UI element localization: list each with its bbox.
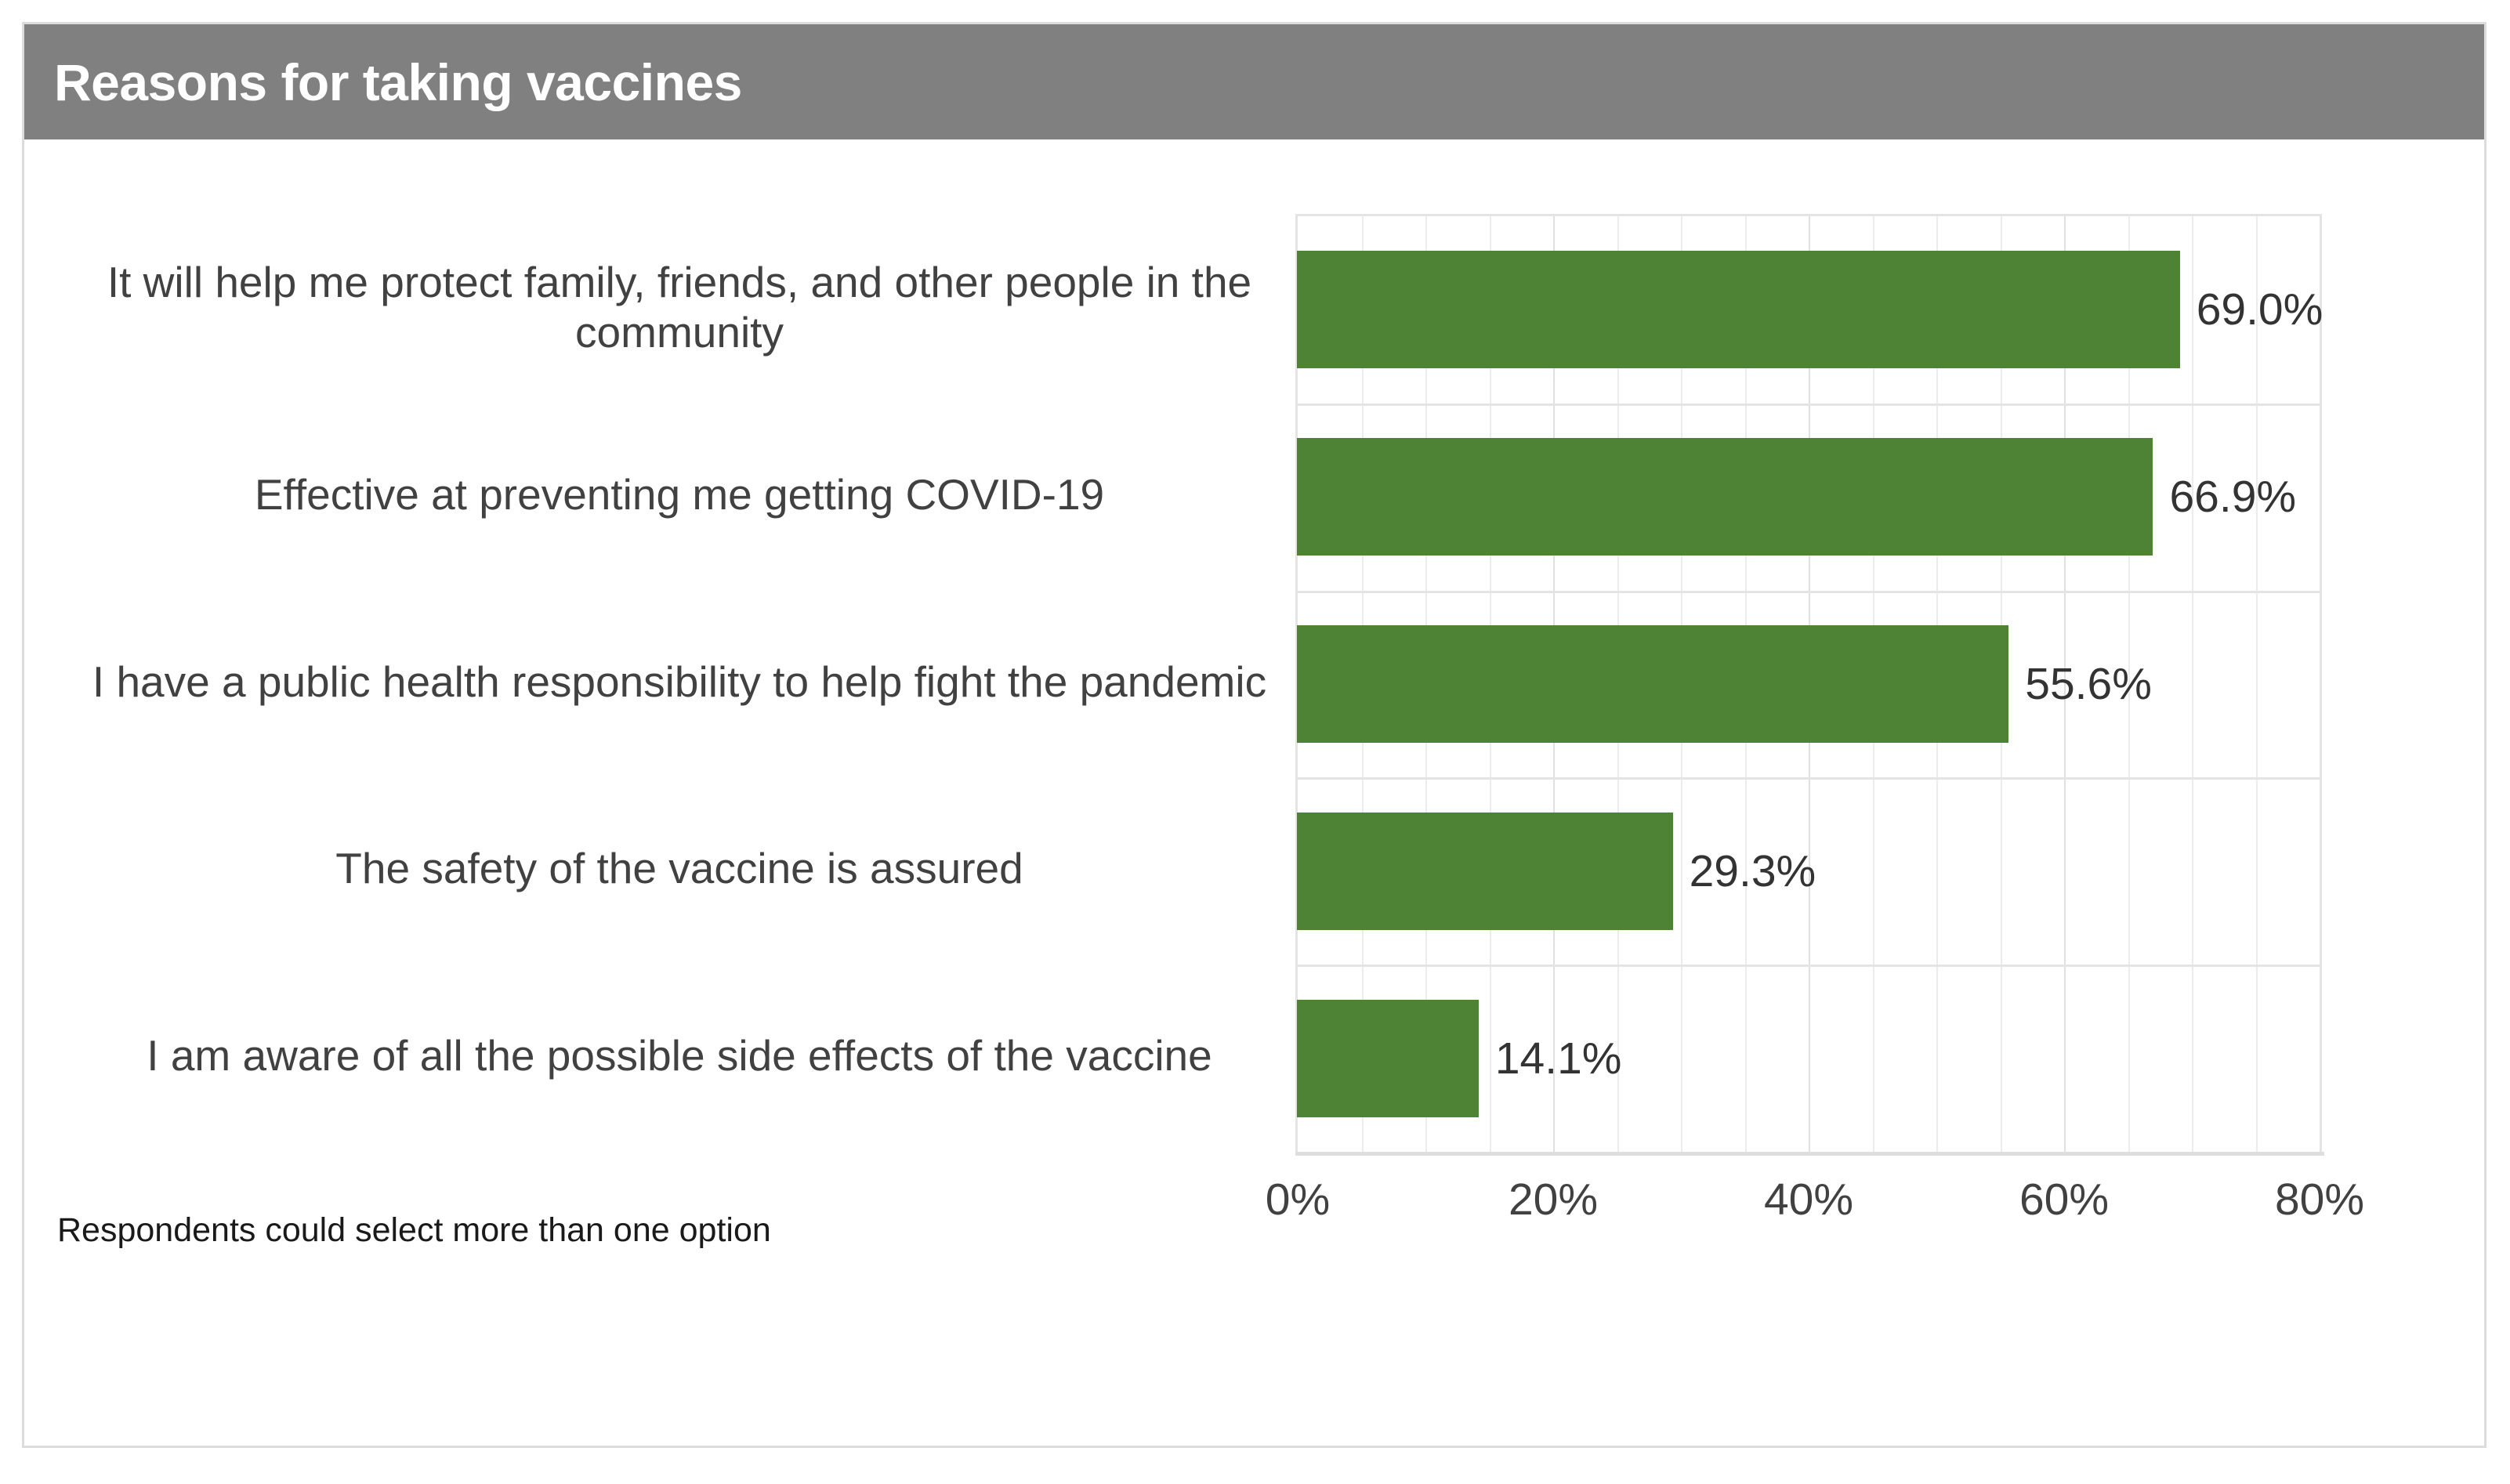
data-value-label: 29.3% bbox=[1690, 845, 1816, 897]
data-value-label: 66.9% bbox=[2169, 471, 2296, 523]
gridline-horizontal bbox=[1298, 591, 2320, 593]
bar bbox=[1298, 813, 1672, 929]
gridline-horizontal bbox=[1298, 965, 2320, 967]
category-label-row: I have a public health responsibility to… bbox=[79, 588, 1292, 776]
x-axis-tick-labels: 0%20%40%60%80% bbox=[1295, 1174, 2322, 1236]
data-value-label: 69.0% bbox=[2197, 284, 2323, 335]
category-axis-labels: It will help me protect family, friends,… bbox=[79, 214, 1292, 1154]
x-tick-label: 0% bbox=[1266, 1174, 1330, 1225]
category-label: The safety of the vaccine is assured bbox=[79, 843, 1292, 894]
category-label-row: The safety of the vaccine is assured bbox=[79, 775, 1292, 962]
category-label: Effective at preventing me getting COVID… bbox=[79, 469, 1292, 520]
data-value-label: 55.6% bbox=[2025, 658, 2152, 710]
gridline-horizontal bbox=[1298, 404, 2320, 406]
gridline-vertical bbox=[2256, 216, 2258, 1152]
category-label-row: Effective at preventing me getting COVID… bbox=[79, 401, 1292, 588]
page-title: Reasons for taking vaccines bbox=[54, 52, 742, 112]
bar bbox=[1298, 252, 2179, 367]
category-label: I am aware of all the possible side effe… bbox=[79, 1030, 1292, 1081]
chart-title-band: Reasons for taking vaccines bbox=[24, 24, 2484, 139]
x-tick-label: 40% bbox=[1764, 1174, 1853, 1225]
bar bbox=[1298, 626, 2008, 742]
bar bbox=[1298, 439, 2152, 555]
gridline-vertical bbox=[2192, 216, 2193, 1152]
x-tick-label: 60% bbox=[2019, 1174, 2109, 1225]
category-label-row: It will help me protect family, friends,… bbox=[79, 214, 1292, 401]
gridline-horizontal bbox=[1298, 777, 2320, 780]
bar bbox=[1298, 1001, 1478, 1117]
category-label-row: I am aware of all the possible side effe… bbox=[79, 962, 1292, 1149]
chart-footnote: Respondents could select more than one o… bbox=[57, 1211, 771, 1250]
x-tick-label: 20% bbox=[1509, 1174, 1598, 1225]
data-value-label: 14.1% bbox=[1495, 1033, 1622, 1084]
chart-card: Reasons for taking vaccines It will help… bbox=[22, 22, 2486, 1448]
x-tick-label: 80% bbox=[2275, 1174, 2364, 1225]
category-label: It will help me protect family, friends,… bbox=[79, 257, 1292, 359]
x-axis-line bbox=[1295, 1152, 2324, 1156]
plot-area bbox=[1295, 214, 2322, 1154]
category-label: I have a public health responsibility to… bbox=[79, 657, 1292, 708]
